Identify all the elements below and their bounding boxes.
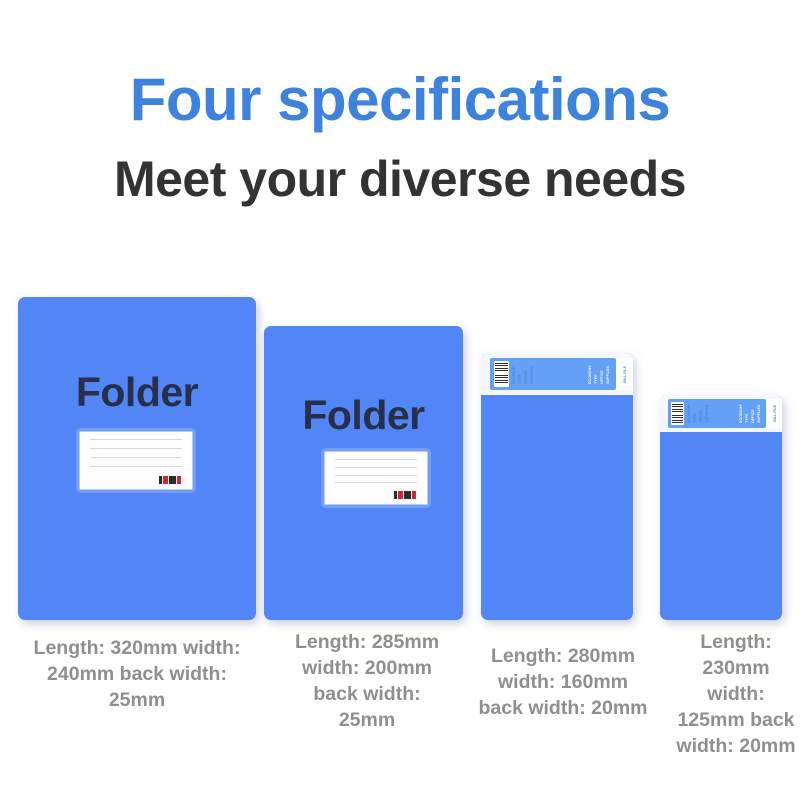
folder-2-wordmark: Folder <box>264 392 463 439</box>
caption-line: width: <box>676 682 796 708</box>
folder-4-caption: Length: 230mm width: 125mm back width: 2… <box>676 630 796 760</box>
caption-line: 125mm back <box>676 708 796 734</box>
band-text-line: ECONOMY <box>687 404 692 423</box>
bill-file-label: BILL FILE <box>773 405 777 422</box>
nameplate-rule <box>335 482 417 483</box>
barcode-icon <box>671 402 684 425</box>
header-band-inner: ECONOMY TYPE OFFICE SUPPLIES ECONOMY TYP… <box>490 358 616 390</box>
nameplate-rule <box>335 459 417 460</box>
band-spec-text: ECONOMY TYPE OFFICE SUPPLIES <box>512 365 535 384</box>
nameplate-rule <box>90 466 182 467</box>
folder-2-caption: Length: 285mm width: 200mm back width: 2… <box>276 630 458 734</box>
caption-line: width: 160mm <box>457 670 669 696</box>
folder-3-body[interactable]: ECONOMY TYPE OFFICE SUPPLIES ECONOMY TYP… <box>481 353 633 620</box>
header-band-inner: ECONOMY TYPE OFFICE SUPPLIES ECONOMY TYP… <box>668 399 766 428</box>
band-text-line: OFFICE <box>600 365 605 384</box>
band-text-line: OFFICE <box>699 404 704 423</box>
band-text-line: ECONOMY <box>588 365 593 384</box>
caption-line: Length: 320mm width: <box>12 636 262 662</box>
band-text-line: TYPE <box>745 404 750 423</box>
band-spec-text: ECONOMY TYPE OFFICE SUPPLIES <box>687 404 710 423</box>
caption-line: Length: 285mm <box>276 630 458 656</box>
header-band-right-tag: BILL FILE <box>767 399 782 428</box>
nameplate-brand-row <box>88 475 184 484</box>
nameplate-rule <box>335 475 417 476</box>
caption-line: back width: <box>276 682 458 708</box>
nameplate-brand-row <box>333 490 419 499</box>
caption-line: Length: 280mm <box>457 644 669 670</box>
nameplate-rule <box>90 457 182 458</box>
band-brand-text: ECONOMY TYPE OFFICE SUPPLIES <box>588 365 611 384</box>
folder-1-wordmark: Folder <box>18 369 256 416</box>
band-text-line: ECONOMY <box>739 404 744 423</box>
barcode-icon <box>494 361 509 387</box>
band-text-line: OFFICE <box>751 404 756 423</box>
nameplate-rule <box>335 467 417 468</box>
band-text-line: SUPPLIES <box>757 404 762 423</box>
folder-1-nameplate <box>79 431 193 490</box>
band-text-line: SUPPLIES <box>530 365 535 384</box>
brand-logo-icon <box>394 491 416 499</box>
product-lineup: Folder Folder <box>0 0 800 800</box>
folder-1-caption: Length: 320mm width: 240mm back width: 2… <box>12 636 262 714</box>
brand-logo-icon <box>159 476 181 484</box>
band-text-line: TYPE <box>693 404 698 423</box>
band-text-line: SUPPLIES <box>705 404 710 423</box>
caption-line: width: 200mm <box>276 656 458 682</box>
folder-3-caption: Length: 280mm width: 160mm back width: 2… <box>457 644 669 722</box>
caption-line: back width: 20mm <box>457 696 669 722</box>
caption-line: width: 20mm <box>676 734 796 760</box>
band-text-line: SUPPLIES <box>606 365 611 384</box>
header-band-right-tag: BILL FILE <box>616 358 633 390</box>
nameplate-rule <box>90 439 182 440</box>
caption-line: 240mm back width: <box>12 662 262 688</box>
folder-3-header-band: ECONOMY TYPE OFFICE SUPPLIES ECONOMY TYP… <box>481 353 633 395</box>
nameplate-rule <box>90 448 182 449</box>
caption-line: Length: <box>676 630 796 656</box>
folder-2-body[interactable]: Folder <box>264 326 463 620</box>
caption-line: 230mm <box>676 656 796 682</box>
band-text-line: OFFICE <box>524 365 529 384</box>
folder-4-header-band: ECONOMY TYPE OFFICE SUPPLIES ECONOMY TYP… <box>660 395 782 432</box>
caption-line: 25mm <box>12 688 262 714</box>
folder-1-body[interactable]: Folder <box>18 297 256 620</box>
caption-line: 25mm <box>276 708 458 734</box>
folder-2-nameplate <box>324 451 428 505</box>
band-text-line: ECONOMY <box>512 365 517 384</box>
band-text-line: TYPE <box>594 365 599 384</box>
band-text-line: TYPE <box>518 365 523 384</box>
folder-4-body[interactable]: ECONOMY TYPE OFFICE SUPPLIES ECONOMY TYP… <box>660 395 782 620</box>
bill-file-label: BILL FILE <box>623 366 627 383</box>
band-brand-text: ECONOMY TYPE OFFICE SUPPLIES <box>739 404 762 423</box>
